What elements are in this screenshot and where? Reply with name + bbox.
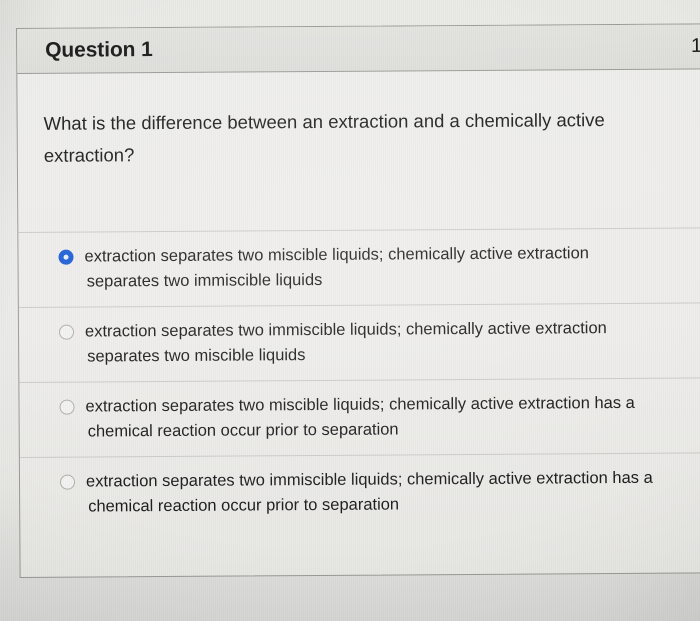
answer-label-2-line1: extraction separates two immiscible liqu… [85,319,607,340]
radio-button-icon-2[interactable] [59,325,74,340]
answer-label-1-line1: extraction separates two miscible liquid… [84,244,588,265]
question-header: Question 1 1 [17,24,700,74]
radio-button-icon-4[interactable] [60,475,75,490]
answer-label-4-line2: chemical reaction occur prior to separat… [86,491,653,520]
question-points: 1 [691,35,700,58]
question-title: Question 1 [45,38,153,63]
answer-option-2[interactable]: extraction separates two immiscible liqu… [19,302,700,382]
question-body: What is the difference between an extrac… [18,103,700,532]
radio-button-icon-3[interactable] [59,400,74,415]
answer-label-3-line1: extraction separates two miscible liquid… [85,394,634,416]
answer-label-2: extraction separates two immiscible liqu… [85,316,607,369]
answer-label-3: extraction separates two miscible liquid… [85,391,635,445]
question-card: Question 1 1 What is the difference betw… [16,23,700,578]
radio-button-icon-1[interactable] [58,250,73,265]
answer-option-1[interactable]: extraction separates two miscible liquid… [18,227,700,307]
answer-label-2-line2: separates two miscible liquids [85,341,607,369]
answer-label-4: extraction separates two immiscible liqu… [86,466,653,520]
answer-option-4[interactable]: extraction separates two immiscible liqu… [20,452,700,532]
answer-label-4-line1: extraction separates two immiscible liqu… [86,469,653,491]
screen-surface: Question 1 1 What is the difference betw… [0,0,700,621]
answer-option-3[interactable]: extraction separates two miscible liquid… [19,377,700,457]
answer-label-1-line2: separates two immiscible liquids [85,266,590,294]
answer-options-list: extraction separates two miscible liquid… [18,227,700,532]
answer-label-3-line2: chemical reaction occur prior to separat… [86,416,635,445]
question-prompt: What is the difference between an extrac… [44,104,689,172]
answer-label-1: extraction separates two miscible liquid… [84,241,589,294]
